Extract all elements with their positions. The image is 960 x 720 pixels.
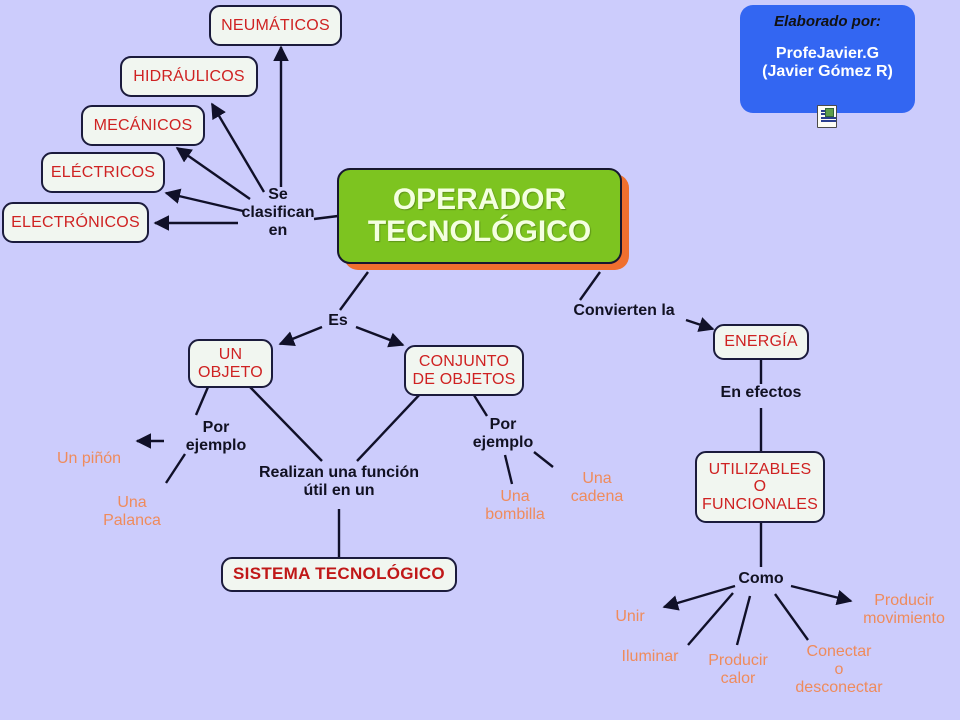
example-producir-movimiento: Producir movimiento (851, 592, 957, 628)
node-label: UTILIZABLES O FUNCIONALES (702, 461, 818, 513)
credit-line-3: (Javier Gómez R) (740, 63, 915, 81)
node-label: SISTEMA TECNOLÓGICO (233, 565, 445, 583)
node-electronicos[interactable]: ELECTRÓNICOS (2, 202, 149, 243)
node-label: NEUMÁTICOS (221, 17, 330, 34)
link-label-se-clasifican-en: Se clasifican en (232, 186, 324, 240)
node-neumaticos[interactable]: NEUMÁTICOS (209, 5, 342, 46)
link-label-convierten-la: Convierten la (560, 302, 688, 320)
example-una-bombilla: Una bombilla (478, 488, 552, 524)
node-hidraulicos[interactable]: HIDRÁULICOS (120, 56, 258, 97)
credit-line-1: Elaborado por: (740, 13, 915, 30)
example-unir: Unir (600, 608, 660, 626)
node-label: ENERGÍA (724, 333, 797, 350)
concept-map-canvas: NEUMÁTICOS HIDRÁULICOS MECÁNICOS ELÉCTRI… (0, 0, 960, 720)
node-label: CONJUNTO DE OBJETOS (412, 353, 515, 388)
link-label-como: Como (726, 570, 796, 588)
node-un-objeto[interactable]: UN OBJETO (188, 339, 273, 388)
link-label-por-ejemplo-left: Por ejemplo (170, 419, 262, 455)
node-energia[interactable]: ENERGÍA (713, 324, 809, 360)
document-icon (817, 105, 837, 128)
node-label: ELECTRÓNICOS (11, 214, 140, 231)
link-label-por-ejemplo-right: Por ejemplo (460, 416, 546, 452)
node-label: MECÁNICOS (94, 117, 193, 134)
link-label-en-efectos: En efectos (700, 384, 822, 402)
example-producir-calor: Producir calor (700, 652, 776, 688)
link-label-realizan-funcion: Realizan una función útil en un (238, 464, 440, 500)
example-conectar-o-desconectar: Conectar o desconectar (785, 643, 893, 697)
node-label: UN OBJETO (198, 346, 263, 381)
credit-card: Elaborado por: ProfeJavier.G (Javier Góm… (740, 5, 915, 113)
node-label: HIDRÁULICOS (133, 68, 245, 85)
example-un-pinon: Un piñón (46, 450, 132, 468)
node-electricos[interactable]: ELÉCTRICOS (41, 152, 165, 193)
node-sistema-tecnologico[interactable]: SISTEMA TECNOLÓGICO (221, 557, 457, 592)
main-title-operador-tecnologico[interactable]: OPERADOR TECNOLÓGICO (337, 168, 622, 264)
example-una-palanca: Una Palanca (92, 494, 172, 530)
node-conjunto-de-objetos[interactable]: CONJUNTO DE OBJETOS (404, 345, 524, 396)
example-una-cadena: Una cadena (560, 470, 634, 506)
credit-line-2: ProfeJavier.G (740, 45, 915, 63)
node-utilizables-o-funcionales[interactable]: UTILIZABLES O FUNCIONALES (695, 451, 825, 523)
node-label: ELÉCTRICOS (51, 164, 155, 181)
example-iluminar: Iluminar (608, 648, 692, 666)
node-mecanicos[interactable]: MECÁNICOS (81, 105, 205, 146)
link-label-es: Es (312, 312, 364, 330)
